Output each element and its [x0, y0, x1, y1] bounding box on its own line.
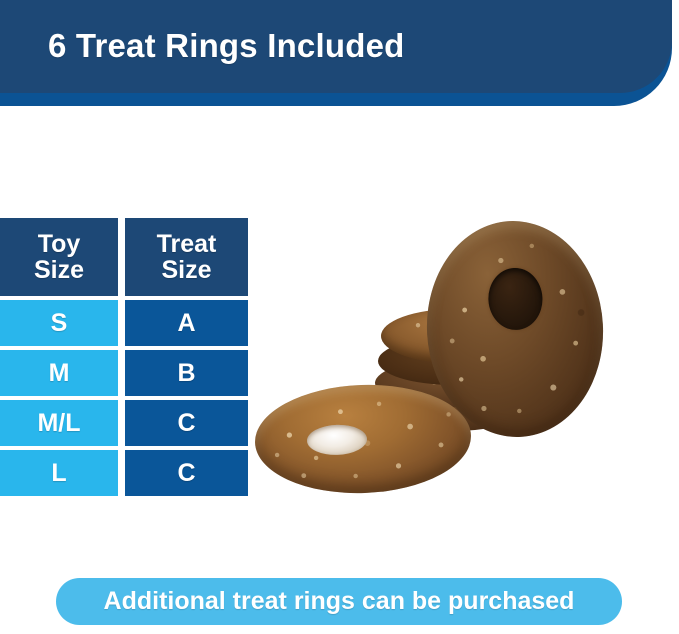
cell-treat-size: A — [125, 300, 248, 346]
cell-toy-size: L — [0, 450, 118, 496]
treat-size-header-line2: Size — [161, 257, 211, 284]
toy-size-header-line2: Size — [34, 257, 84, 284]
toy-size-header-line1: Toy — [38, 231, 81, 258]
header-banner: 6 Treat Rings Included — [0, 0, 679, 112]
table-row: M/L C — [0, 400, 248, 446]
treat-rings-photo — [255, 215, 679, 505]
flat-treat-ring — [253, 381, 473, 496]
cell-toy-size: S — [0, 300, 118, 346]
table-row: M B — [0, 350, 248, 396]
cell-treat-size: C — [125, 450, 248, 496]
page-title: 6 Treat Rings Included — [48, 27, 404, 65]
treat-size-header-line1: Treat — [157, 231, 217, 258]
table-row: L C — [0, 450, 248, 496]
column-header-toy-size: Toy Size — [0, 218, 118, 296]
table-row: S A — [0, 300, 248, 346]
cell-toy-size: M — [0, 350, 118, 396]
cell-toy-size: M/L — [0, 400, 118, 446]
footer-callout-banner: Additional treat rings can be purchased — [56, 578, 622, 625]
footer-callout-text: Additional treat rings can be purchased — [104, 587, 575, 616]
cell-treat-size: C — [125, 400, 248, 446]
column-header-treat-size: Treat Size — [125, 218, 248, 296]
toy-treat-size-table: Toy Size Treat Size S A M B M/L C L C — [0, 218, 248, 496]
cell-treat-size: B — [125, 350, 248, 396]
table-header-row: Toy Size Treat Size — [0, 218, 248, 296]
